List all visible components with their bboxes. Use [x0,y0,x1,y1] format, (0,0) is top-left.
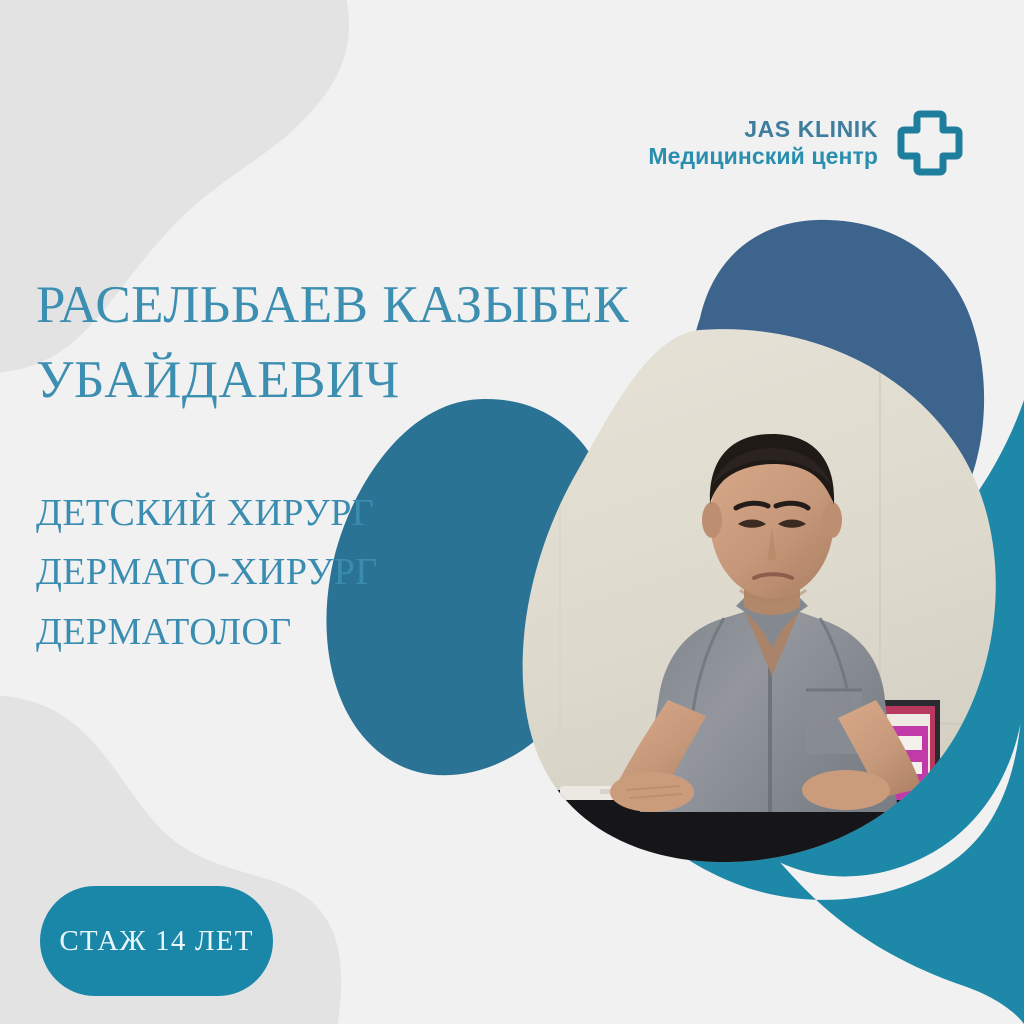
clinic-logo: JAS KLINIK Медицинский центр [596,100,966,186]
experience-badge: СТАЖ 14 ЛЕТ [40,886,273,996]
medical-cross-icon [894,107,966,179]
specialty-item: ДЕРМАТОЛОГ [36,603,596,662]
doctor-profile-card: JAS KLINIK Медицинский центр РАСЕЛЬБАЕВ … [0,0,1024,1024]
specialty-list: ДЕТСКИЙ ХИРУРГ ДЕРМАТО-ХИРУРГ ДЕРМАТОЛОГ [36,484,596,662]
specialty-item: ДЕТСКИЙ ХИРУРГ [36,484,596,543]
experience-badge-label: СТАЖ 14 ЛЕТ [59,925,253,958]
clinic-subtitle: Медицинский центр [648,143,878,170]
clinic-brand-name: JAS KLINIK [648,116,878,143]
headline-block: РАСЕЛЬБАЕВ КАЗЫБЕК УБАЙДАЕВИЧ [36,268,676,419]
specialty-item: ДЕРМАТО-ХИРУРГ [36,543,596,602]
clinic-logo-text: JAS KLINIK Медицинский центр [648,116,878,170]
doctor-name: РАСЕЛЬБАЕВ КАЗЫБЕК УБАЙДАЕВИЧ [36,268,676,419]
